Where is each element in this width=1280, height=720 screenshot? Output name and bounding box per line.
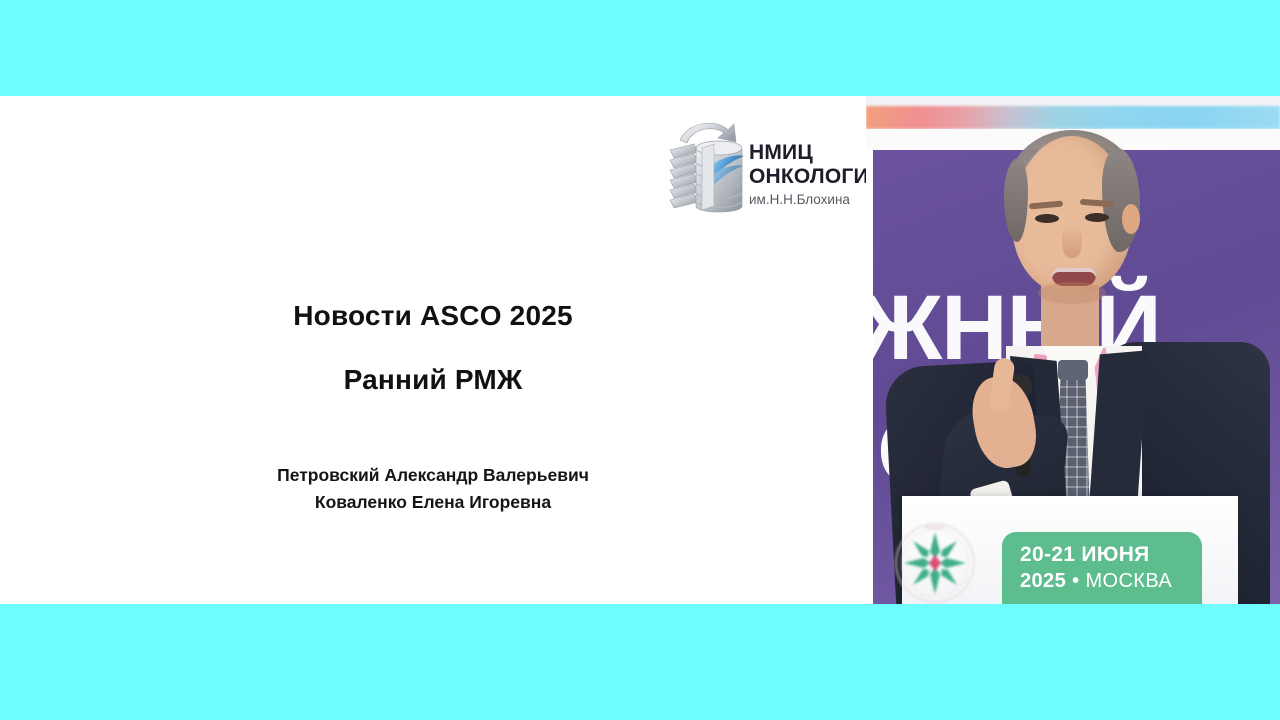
- speaker-eye-right: [1085, 213, 1109, 222]
- speaker-eye-left: [1035, 214, 1059, 223]
- event-dates: 20-21 ИЮНЯ: [1020, 541, 1202, 568]
- author-name-2: Коваленко Елена Игоревна: [0, 489, 866, 516]
- content-strip: НМИЦ ОНКОЛОГИИ им.Н.Н.Блохина Новости AS…: [0, 96, 1280, 604]
- svg-text:RUSSCO: RUSSCO: [926, 525, 945, 530]
- letterbox-band-bottom: [0, 604, 1280, 720]
- event-year-city: 2025 • МОСКВА: [1020, 568, 1202, 595]
- screenshot-frame: НМИЦ ОНКОЛОГИИ им.Н.Н.Блохина Новости AS…: [0, 0, 1280, 720]
- letterbox-band-top: [0, 0, 1280, 96]
- author-name-1: Петровский Александр Валерьевич: [0, 462, 866, 489]
- speaker-necktie-knot: [1058, 360, 1088, 380]
- logo-line-1: НМИЦ: [749, 141, 866, 165]
- event-year: 2025: [1020, 570, 1066, 592]
- speaker-chin: [1038, 282, 1106, 304]
- speaker-video-panel[interactable]: ЖНЫЙ О: [866, 96, 1280, 604]
- event-separator: •: [1072, 570, 1079, 592]
- logo-line-3: им.Н.Н.Блохина: [749, 190, 866, 209]
- logo-line-2: ОНКОЛОГИИ: [749, 165, 866, 189]
- event-date-badge: 20-21 ИЮНЯ 2025 • МОСКВА: [1002, 532, 1202, 604]
- nmic-oncology-emblem-icon: [664, 114, 748, 226]
- slide-subtitle: Ранний РМЖ: [0, 364, 866, 396]
- presentation-slide: НМИЦ ОНКОЛОГИИ им.Н.Н.Блохина Новости AS…: [0, 96, 866, 604]
- speaker-ear-right: [1122, 204, 1140, 234]
- russco-compass-emblem-icon: RUSSCO: [894, 522, 976, 604]
- institution-logo-text: НМИЦ ОНКОЛОГИИ им.Н.Н.Блохина: [749, 141, 866, 209]
- slide-title: Новости ASCO 2025: [0, 300, 866, 332]
- institution-logo: НМИЦ ОНКОЛОГИИ им.Н.Н.Блохина: [664, 110, 864, 228]
- event-city: МОСКВА: [1085, 570, 1172, 592]
- slide-authors: Петровский Александр Валерьевич Коваленк…: [0, 462, 866, 516]
- speaker-nose: [1062, 224, 1082, 258]
